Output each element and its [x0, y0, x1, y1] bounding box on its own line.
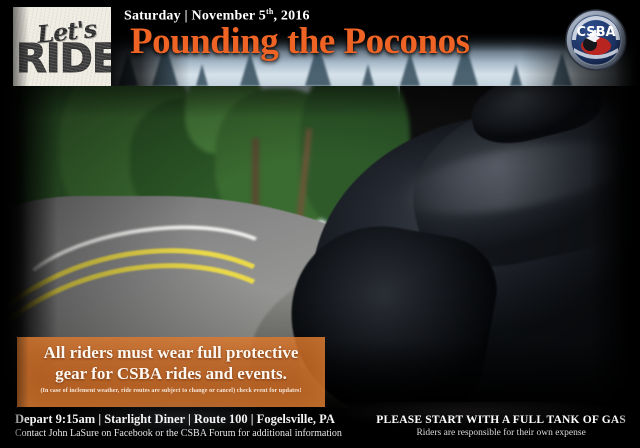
- pine-tree-icon: [362, 64, 374, 86]
- page-title: Pounding the Poconos: [130, 22, 470, 62]
- logo-grain-texture: [13, 7, 111, 86]
- safety-notice-line-1: All riders must wear full protective: [17, 342, 325, 363]
- safety-notice-line-2: gear for CSBA rides and events.: [17, 363, 325, 384]
- event-flyer: Let's RIDE Saturday | November 5th, 2016…: [0, 0, 640, 448]
- csba-logo: CSBA: [564, 8, 628, 72]
- departure-details: Depart 9:15am | Starlight Diner | Route …: [15, 412, 342, 427]
- lets-ride-logo: Let's RIDE: [13, 7, 111, 86]
- expense-notice: Riders are responsible for their own exp…: [376, 427, 626, 439]
- safety-notice-banner: All riders must wear full protective gea…: [17, 337, 325, 407]
- csba-badge-icon: CSBA: [564, 8, 628, 72]
- flyer-footer: Depart 9:15am | Starlight Diner | Route …: [0, 408, 640, 448]
- flyer-header: Let's RIDE Saturday | November 5th, 2016…: [0, 0, 640, 86]
- motorcycle-rider: [290, 78, 640, 413]
- csba-badge-text: CSBA: [576, 25, 615, 40]
- footer-left-block: Depart 9:15am | Starlight Diner | Route …: [15, 412, 342, 440]
- contact-details: Contact John LaSure on Facebook or the C…: [15, 427, 342, 440]
- footer-right-block: PLEASE START WITH A FULL TANK OF GAS Rid…: [376, 413, 626, 439]
- weather-disclaimer: (In case of inclement weather, ride rout…: [17, 387, 325, 395]
- safety-notice-text: All riders must wear full protective gea…: [17, 342, 325, 384]
- pine-tree-icon: [196, 64, 208, 86]
- fuel-notice: PLEASE START WITH A FULL TANK OF GAS: [376, 413, 626, 427]
